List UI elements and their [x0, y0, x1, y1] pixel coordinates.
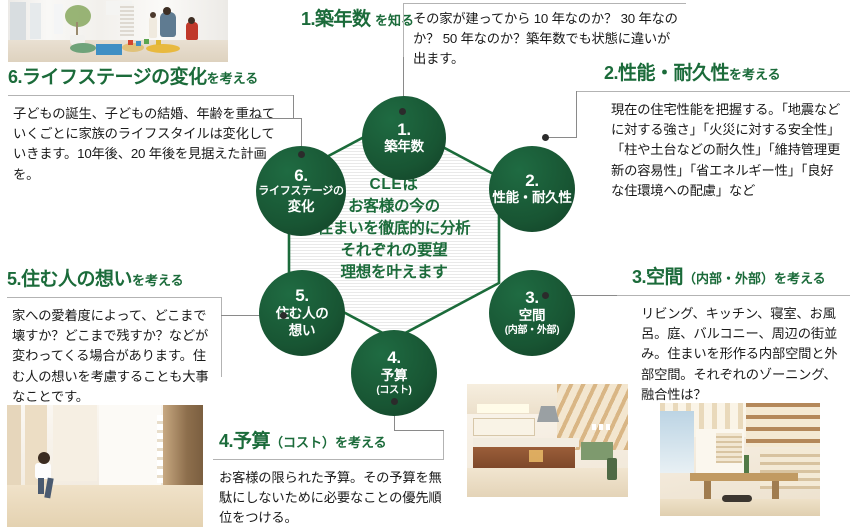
node-sumu-hito-no-omoi[interactable]: 5. 住む人の 想い	[259, 270, 345, 356]
section-6-rule	[8, 95, 293, 96]
node-2-label: 性能・耐久性	[492, 190, 571, 206]
section-1-title: 築年数	[315, 9, 371, 30]
center-line-4: それぞれの要望	[283, 240, 505, 262]
node-6-label: ライフステージの	[258, 185, 343, 198]
node-6-connector-dot	[298, 151, 305, 158]
node-3-sub: (内部・外部)	[505, 325, 560, 337]
node-5-number: 5.	[295, 287, 309, 305]
section-4-suffix: を考える	[335, 435, 387, 450]
node-2-connector-dot	[542, 134, 549, 141]
section-3-number: 3.	[632, 267, 646, 287]
section-1-body: その家が建ってから 10 年なのか？ 30 年なのか？ 50 年なのか？築年数で…	[413, 9, 681, 70]
section-3-body: リビング、キッチン、寝室、お風呂。庭、バルコニー、周辺の街並み。住まいを形作る内…	[641, 304, 845, 405]
section-4-paren: （コスト）	[270, 435, 335, 450]
section-2-suffix: を考える	[729, 67, 781, 82]
connector-4-horizontal	[394, 430, 444, 431]
node-3-number: 3.	[525, 289, 539, 307]
section-2-body: 現在の住宅性能を把握する。「地震などに対する強さ」「火災に対する安全性」「柱や土…	[611, 100, 843, 201]
section-4-box-border-right	[443, 430, 444, 460]
photo-kitchen	[467, 384, 628, 497]
section-5-suffix: を考える	[132, 273, 184, 288]
node-4-connector-dot	[391, 398, 398, 405]
photo-playroom	[8, 0, 228, 62]
section-1-box-border-left	[403, 3, 404, 57]
section-1-box-border-top	[403, 3, 686, 4]
section-3-title: 空間	[646, 267, 683, 288]
section-2-number: 2.	[604, 63, 618, 83]
section-2-rule	[576, 91, 850, 92]
section-4-header: 4.予算（コスト）を考える	[219, 432, 387, 451]
infographic-root: 1.築年数 を知る その家が建ってから 10 年なのか？ 30 年なのか？ 50…	[0, 0, 850, 529]
photo-hallway	[7, 405, 203, 527]
section-1-suffix: を知る	[375, 13, 414, 28]
node-4-sub: (コスト)	[376, 385, 411, 397]
node-6-sub: 変化	[288, 199, 314, 215]
section-5-number: 5.	[7, 269, 21, 289]
node-2-number: 2.	[525, 172, 539, 190]
node-1-number: 1.	[397, 121, 411, 139]
section-1-number: 1.	[301, 9, 315, 29]
section-3-paren: （内部・外部）	[683, 271, 774, 286]
node-3-label: 空間	[519, 308, 545, 324]
node-3-connector-dot	[542, 292, 549, 299]
section-4-number: 4.	[219, 431, 233, 451]
section-3-rule	[616, 295, 850, 296]
section-6-suffix: を考える	[207, 71, 259, 86]
section-4-rule	[213, 459, 444, 460]
section-4-body: お客様の限られた予算。その予算を無駄にしないために必要なことの優先順位をつける。	[219, 468, 447, 529]
section-5-title: 住む人の想い	[21, 269, 132, 290]
section-3-suffix: を考える	[774, 271, 826, 286]
section-6-title: ライフステージの変化	[22, 67, 207, 88]
connector-6-rise	[293, 95, 294, 118]
node-6-number: 6.	[294, 167, 308, 185]
section-6-header: 6.ライフステージの変化を考える	[8, 68, 258, 87]
section-5-rule	[7, 297, 222, 298]
section-6-number: 6.	[8, 67, 22, 87]
section-2-header: 2.性能・耐久性を考える	[604, 64, 781, 83]
section-5-body: 家への愛着度によって、どこまで壊すか？どこまで残すか？などが変わってくる場合があ…	[12, 306, 216, 407]
section-5-header: 5.住む人の想いを考える	[7, 270, 184, 289]
node-5-sub: 想い	[289, 323, 315, 339]
connector-2-horizontal	[545, 137, 577, 138]
section-1-header: 1.築年数 を知る	[301, 10, 393, 29]
node-kukan[interactable]: 3. 空間 (内部・外部)	[489, 270, 575, 356]
section-4-title: 予算	[233, 431, 270, 452]
section-6-body: 子どもの誕生、子どもの結婚、年齢を重ねていくごとに家族のライフスタイルは変化して…	[13, 104, 285, 185]
node-4-label: 予算	[381, 368, 407, 384]
connector-2-rise	[576, 91, 577, 137]
node-seino-taikyusei[interactable]: 2. 性能・耐久性	[489, 146, 575, 232]
node-4-number: 4.	[387, 349, 401, 367]
section-5-box-border-right	[221, 297, 222, 377]
node-5-connector-dot	[280, 312, 287, 319]
section-2-title: 性能・耐久性	[618, 63, 729, 84]
section-3-header: 3.空間（内部・外部）を考える	[632, 268, 826, 287]
node-1-connector-dot	[399, 108, 406, 115]
node-lifestage-henka[interactable]: 6. ライフステージの 変化	[256, 146, 346, 236]
photo-livingroom	[660, 403, 820, 516]
node-1-label: 築年数	[384, 139, 424, 155]
